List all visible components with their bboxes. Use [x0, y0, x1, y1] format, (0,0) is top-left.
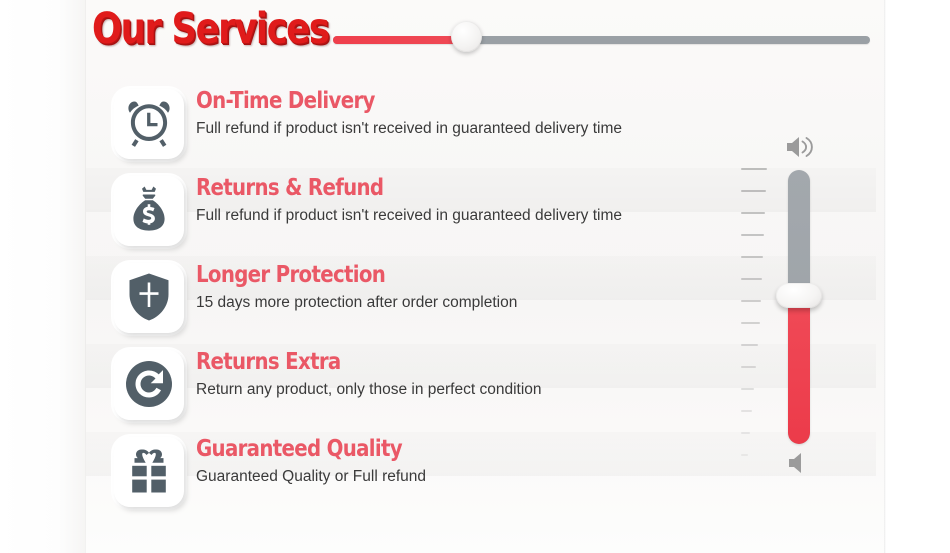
page-title: Our Services [92, 8, 329, 51]
progress-slider-thumb[interactable] [451, 21, 482, 52]
service-text: Guaranteed Quality Guaranteed Quality or… [196, 437, 756, 486]
service-description: Guaranteed Quality or Full refund [196, 467, 756, 486]
service-description: Return any product, only those in perfec… [196, 380, 756, 399]
volume-mute-icon[interactable] [783, 448, 817, 478]
service-icon [110, 433, 188, 511]
service-icon [110, 85, 188, 163]
service-text: Returns Extra Return any product, only t… [196, 350, 756, 399]
service-title: Guaranteed Quality [196, 437, 678, 463]
progress-slider[interactable] [333, 31, 870, 49]
service-title: Returns & Refund [196, 176, 678, 202]
shield-icon [122, 270, 176, 324]
money-bag-icon [122, 183, 176, 237]
refresh-circle-icon [122, 357, 176, 411]
volume-slider-thumb[interactable] [776, 283, 822, 308]
services-screen: Our Services [0, 0, 950, 553]
page-white-margin [886, 0, 950, 553]
service-description: Full refund if product isn't received in… [196, 206, 756, 225]
volume-slider-fill [788, 296, 810, 444]
gift-box-icon [122, 444, 176, 498]
service-icon [110, 172, 188, 250]
volume-high-icon[interactable] [783, 132, 817, 162]
service-text: On-Time Delivery Full refund if product … [196, 89, 756, 138]
volume-slider[interactable] [735, 128, 845, 498]
header: Our Services [0, 0, 886, 80]
service-text: Returns & Refund Full refund if product … [196, 176, 756, 225]
service-icon [110, 259, 188, 337]
service-icon [110, 346, 188, 424]
alarm-clock-icon [122, 96, 176, 150]
service-description: Full refund if product isn't received in… [196, 119, 756, 138]
volume-tick-marks [735, 168, 781, 456]
progress-slider-fill [333, 36, 467, 44]
service-title: Longer Protection [196, 263, 678, 289]
service-text: Longer Protection 15 days more protectio… [196, 263, 756, 312]
service-title: Returns Extra [196, 350, 678, 376]
service-title: On-Time Delivery [196, 89, 678, 115]
service-description: 15 days more protection after order comp… [196, 293, 756, 312]
